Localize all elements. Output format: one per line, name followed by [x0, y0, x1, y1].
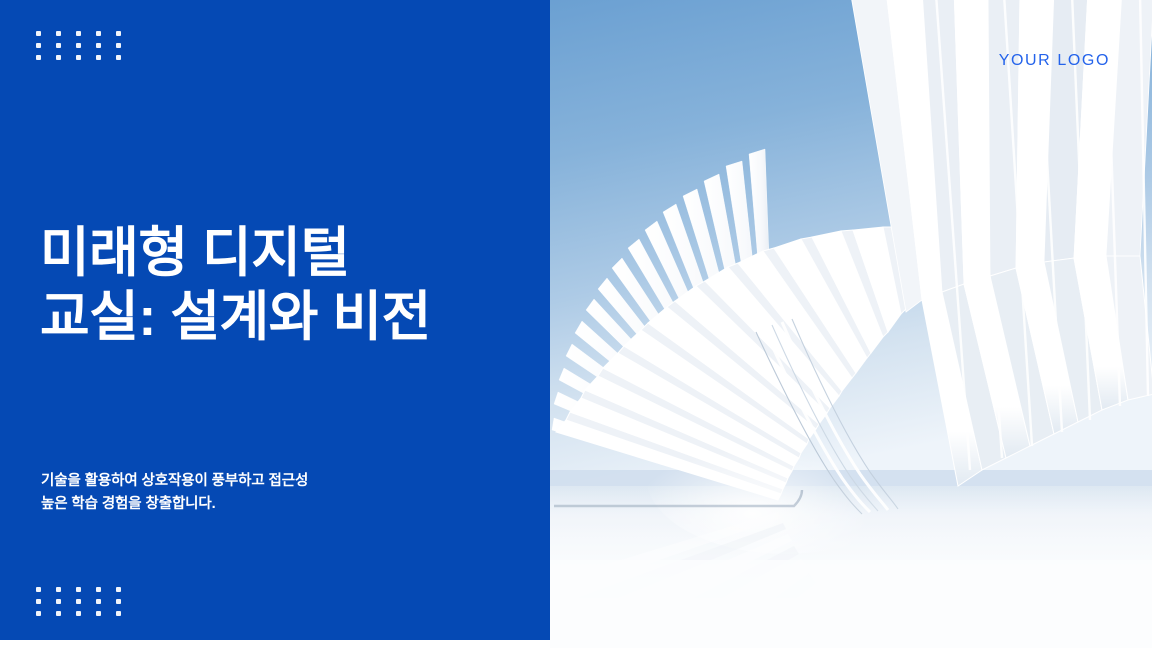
dot [96, 31, 101, 36]
hero-architecture-image [550, 0, 1152, 648]
dot [76, 43, 81, 48]
subtitle-text: 기술을 활용하여 상호작용이 풍부하고 접근성 높은 학습 경험을 창출합니다. [41, 470, 441, 517]
dot [96, 55, 101, 60]
dot [56, 611, 61, 616]
dot [76, 55, 81, 60]
dot [96, 599, 101, 604]
title-slide: 미래형 디지털 교실: 설계와 비전 기술을 활용하여 상호작용이 풍부하고 접… [0, 0, 1152, 648]
dot [36, 611, 41, 616]
dot [56, 55, 61, 60]
dot [76, 599, 81, 604]
dot [76, 587, 81, 592]
dot [76, 31, 81, 36]
dot [116, 43, 121, 48]
dot [36, 587, 41, 592]
dot [116, 55, 121, 60]
dot [36, 43, 41, 48]
dot [56, 587, 61, 592]
dot [116, 31, 121, 36]
left-blue-panel: 미래형 디지털 교실: 설계와 비전 기술을 활용하여 상호작용이 풍부하고 접… [0, 0, 550, 640]
dot-grid-top [36, 31, 136, 67]
dot [116, 587, 121, 592]
dot [36, 31, 41, 36]
dot [76, 611, 81, 616]
dot [36, 55, 41, 60]
dot [36, 599, 41, 604]
dot [96, 43, 101, 48]
dot-grid-bottom [36, 587, 136, 623]
logo-text[interactable]: YOUR LOGO [999, 52, 1110, 70]
dot [56, 43, 61, 48]
dot [56, 599, 61, 604]
dot [96, 611, 101, 616]
dot [96, 587, 101, 592]
hero-illustration [550, 0, 1152, 648]
dot [116, 611, 121, 616]
page-title: 미래형 디지털 교실: 설계와 비전 [40, 222, 540, 349]
dot [56, 31, 61, 36]
dot [116, 599, 121, 604]
